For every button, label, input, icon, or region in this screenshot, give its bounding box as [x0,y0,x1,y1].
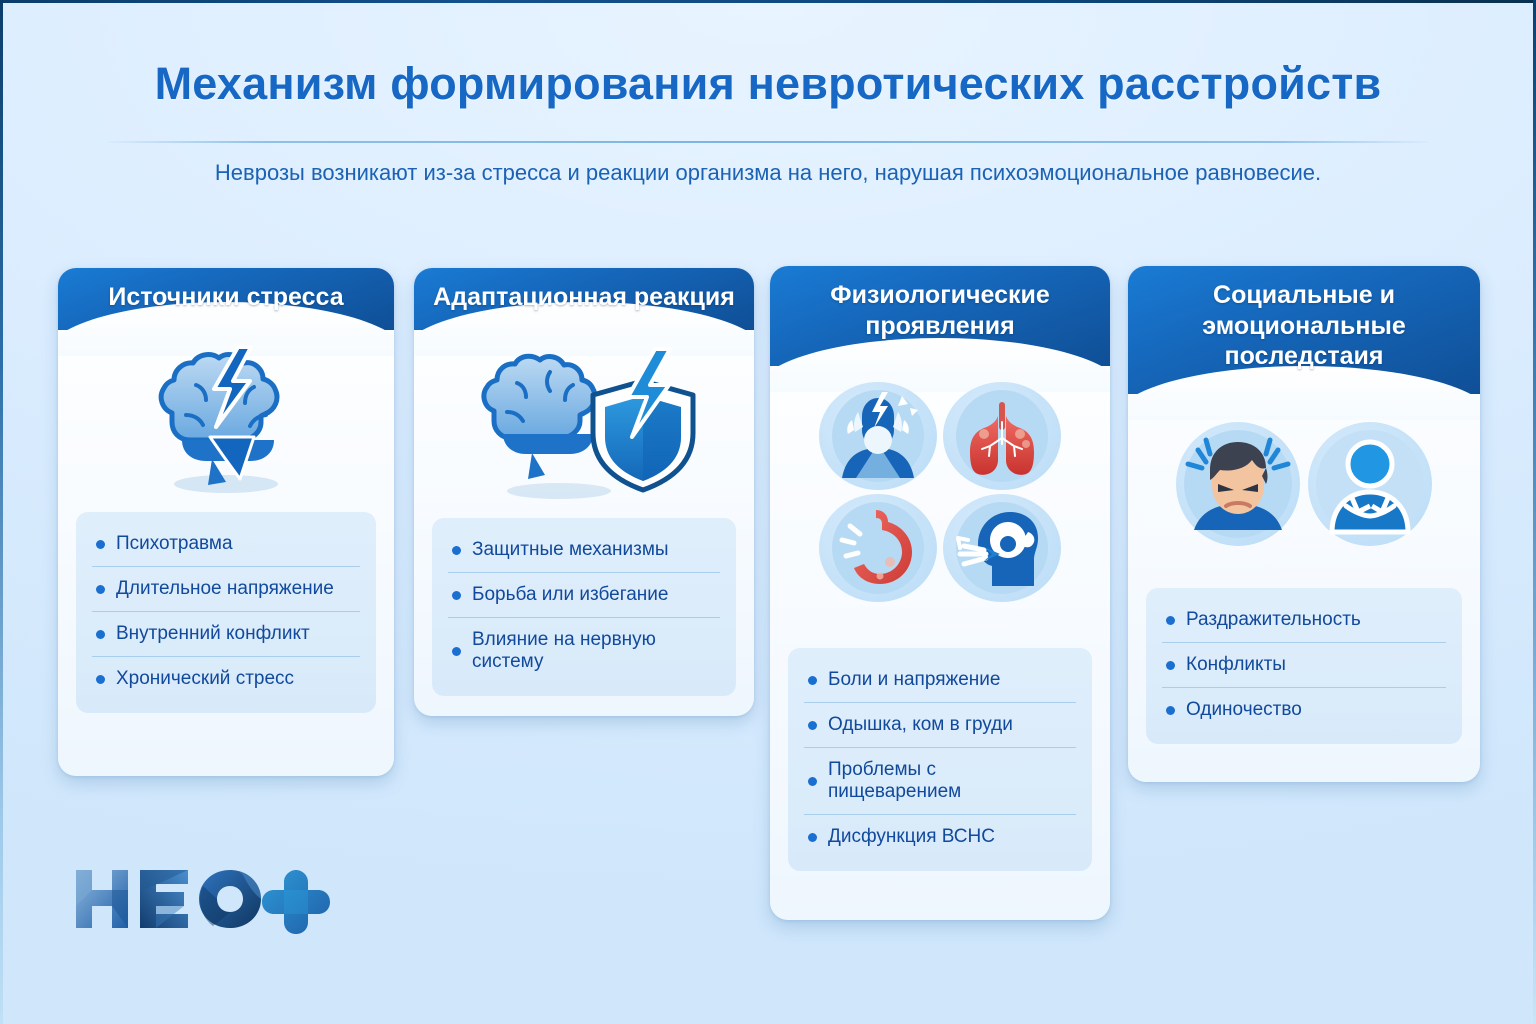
bullet-icon [452,647,461,656]
list-item[interactable]: Борьба или избегание [448,573,720,618]
list-item-label: Боли и напряжение [828,669,1000,691]
list-item[interactable]: Хронический стресс [92,657,360,701]
frame-edge-top [0,0,1536,3]
nervous-system-head-icon [943,494,1061,602]
list-item-label: Длительное напряжение [116,578,334,600]
card-title: Источники стресса [108,282,343,313]
list-item[interactable]: Защитные механизмы [448,528,720,573]
card-list: Психотравма Длительное напряжение Внутре… [76,512,376,713]
card-header: Социальные и эмоциональные последстаия [1128,266,1480,394]
card-stress-sources: Источники стресса Психотравма Длительное… [58,268,394,776]
card-icon-area [1128,404,1480,564]
bullet-icon [452,591,461,600]
list-item[interactable]: Влияние на нервную систему [448,618,720,684]
card-header: Физиологические проявления [770,266,1110,366]
lonely-person-icon [1308,422,1432,546]
card-icon-area [770,372,1110,612]
list-item[interactable]: Дисфункция ВСНС [804,815,1076,859]
brain-icon [484,356,595,479]
list-item-label: Дисфункция ВСНС [828,826,995,848]
card-list: Боли и напряжение Одышка, ком в груди Пр… [788,648,1092,871]
bullet-icon [808,833,817,842]
list-item-label: Внутренний конфликт [116,623,310,645]
list-item-label: Конфликты [1186,654,1286,676]
frame-edge-left [0,0,3,1024]
card-title: Социальные и эмоциональные последстаия [1128,280,1480,372]
bullet-icon [96,540,105,549]
neo-plus-logo-icon [70,862,330,936]
list-item-label: Психотравма [116,533,233,555]
card-list: Защитные механизмы Борьба или избегание … [432,518,736,696]
card-title: Физиологические проявления [770,280,1110,341]
list-item-label: Борьба или избегание [472,584,669,606]
list-item-label: Одиночество [1186,699,1302,721]
page-title: Механизм формирования невротических расс… [0,58,1536,110]
card-adaptive-reaction: Адаптационная реакция Защитные м [414,268,754,716]
bullet-icon [1166,706,1175,715]
list-item[interactable]: Одышка, ком в груди [804,703,1076,748]
bullet-icon [452,546,461,555]
bullet-icon [96,585,105,594]
page-subtitle: Неврозы возникают из-за стресса и реакци… [0,160,1536,186]
lungs-icon [943,382,1061,490]
list-item[interactable]: Одиночество [1162,688,1446,732]
list-item-label: Раздражительность [1186,609,1361,631]
card-social-emotional-consequences: Социальные и эмоциональные последстаия [1128,266,1480,782]
bullet-icon [808,721,817,730]
list-item-label: Проблемы с пищеварением [828,759,1074,803]
brain-shield-group-icon [464,341,704,506]
list-item[interactable]: Боли и напряжение [804,658,1076,703]
bullet-icon [1166,616,1175,625]
card-icon-area [414,336,754,511]
list-item[interactable]: Конфликты [1162,643,1446,688]
headache-person-icon [819,382,937,490]
bullet-icon [808,676,817,685]
card-title: Адаптационная реакция [433,282,735,313]
list-item-label: Одышка, ком в груди [828,714,1013,736]
card-list: Раздражительность Конфликты Одиночество [1146,588,1462,744]
list-item-label: Влияние на нервную систему [472,629,718,673]
card-header: Адаптационная реакция [414,268,754,330]
bullet-icon [1166,661,1175,670]
list-item-label: Хронический стресс [116,668,294,690]
angry-face-icon [1176,422,1300,546]
bullet-icon [96,630,105,639]
brand-logo [70,862,330,936]
list-item[interactable]: Внутренний конфликт [92,612,360,657]
card-physiological-manifestations: Физиологические проявления [770,266,1110,920]
bullet-icon [808,777,817,786]
brain-lightning-icon [126,341,326,501]
list-item-label: Защитные механизмы [472,539,669,561]
list-item[interactable]: Длительное напряжение [92,567,360,612]
stomach-icon [819,494,937,602]
list-item[interactable]: Проблемы с пищеварением [804,748,1076,815]
list-item[interactable]: Раздражительность [1162,598,1446,643]
list-item[interactable]: Психотравма [92,522,360,567]
bullet-icon [96,675,105,684]
card-icon-area [58,336,394,506]
title-divider [108,141,1428,143]
card-header: Источники стресса [58,268,394,330]
